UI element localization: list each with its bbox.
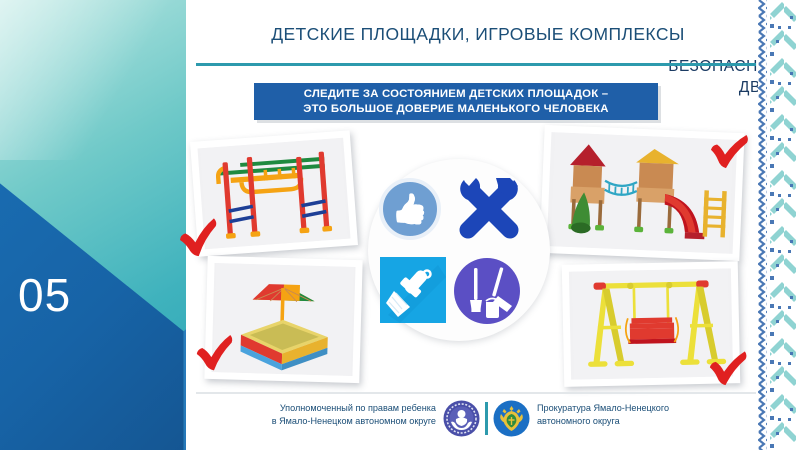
paintbrush-icon (380, 257, 446, 323)
prosecutor-line-1: Прокуратура Ямало-Ненецкого (537, 402, 747, 415)
check-glyph (174, 214, 225, 265)
check-glyph (706, 129, 753, 176)
prosecutor-emblem-glyph (493, 400, 530, 437)
footer-separator (485, 402, 488, 435)
checkmark-play-complex (706, 129, 753, 176)
hammer-wrench-glyph (452, 172, 526, 246)
page-title: ДЕТСКИЕ ПЛОЩАДКИ, ИГРОВЫЕ КОМПЛЕКСЫ (200, 24, 756, 45)
check-glyph (192, 331, 238, 377)
ombudsman-emblem-glyph (443, 400, 480, 437)
mop-bucket-glyph (454, 258, 520, 324)
ombudsman-line-2: в Ямало-Ненецком автономном округе (204, 415, 436, 428)
prosecutor-caption: Прокуратура Ямало-Ненецкого автономного … (537, 402, 747, 428)
left-panel (0, 0, 186, 450)
banner-line-1: СЛЕДИТЕ ЗА СОСТОЯНИЕМ ДЕТСКИХ ПЛОЩАДОК – (304, 87, 609, 101)
ornament-pattern (758, 0, 800, 450)
title-divider (196, 63, 756, 66)
ombudsman-caption: Уполномоченный по правам ребенка в Ямало… (204, 402, 436, 428)
prosecutor-line-2: автономного округа (537, 415, 747, 428)
panel-sheen (0, 0, 186, 160)
slide-root: БЕЗОПАСНЫЙ ДВОР 05 ДЕТСКИЕ ПЛОЩАДКИ, ИГР… (0, 0, 800, 450)
checkmark-sandbox (192, 331, 238, 377)
prosecutor-emblem (493, 400, 530, 437)
slide-number: 05 (18, 272, 71, 318)
check-glyph (705, 346, 751, 392)
thumbs-up-icon (379, 178, 441, 240)
checkmark-climbing-frame (174, 214, 225, 265)
paintbrush-glyph (380, 257, 446, 323)
checkmark-swing (705, 346, 751, 392)
footer-divider (196, 392, 756, 394)
mop-bucket-icon (454, 258, 520, 324)
ombudsman-line-1: Уполномоченный по правам ребенка (204, 402, 436, 415)
banner-line-2: ЭТО БОЛЬШОЕ ДОВЕРИЕ МАЛЕНЬКОГО ЧЕЛОВЕКА (303, 102, 608, 116)
callout-banner: СЛЕДИТЕ ЗА СОСТОЯНИЕМ ДЕТСКИХ ПЛОЩАДОК –… (254, 83, 658, 120)
ombudsman-emblem (443, 400, 480, 437)
hammer-wrench-icon (452, 172, 526, 246)
nenets-ornament-border (758, 0, 800, 450)
